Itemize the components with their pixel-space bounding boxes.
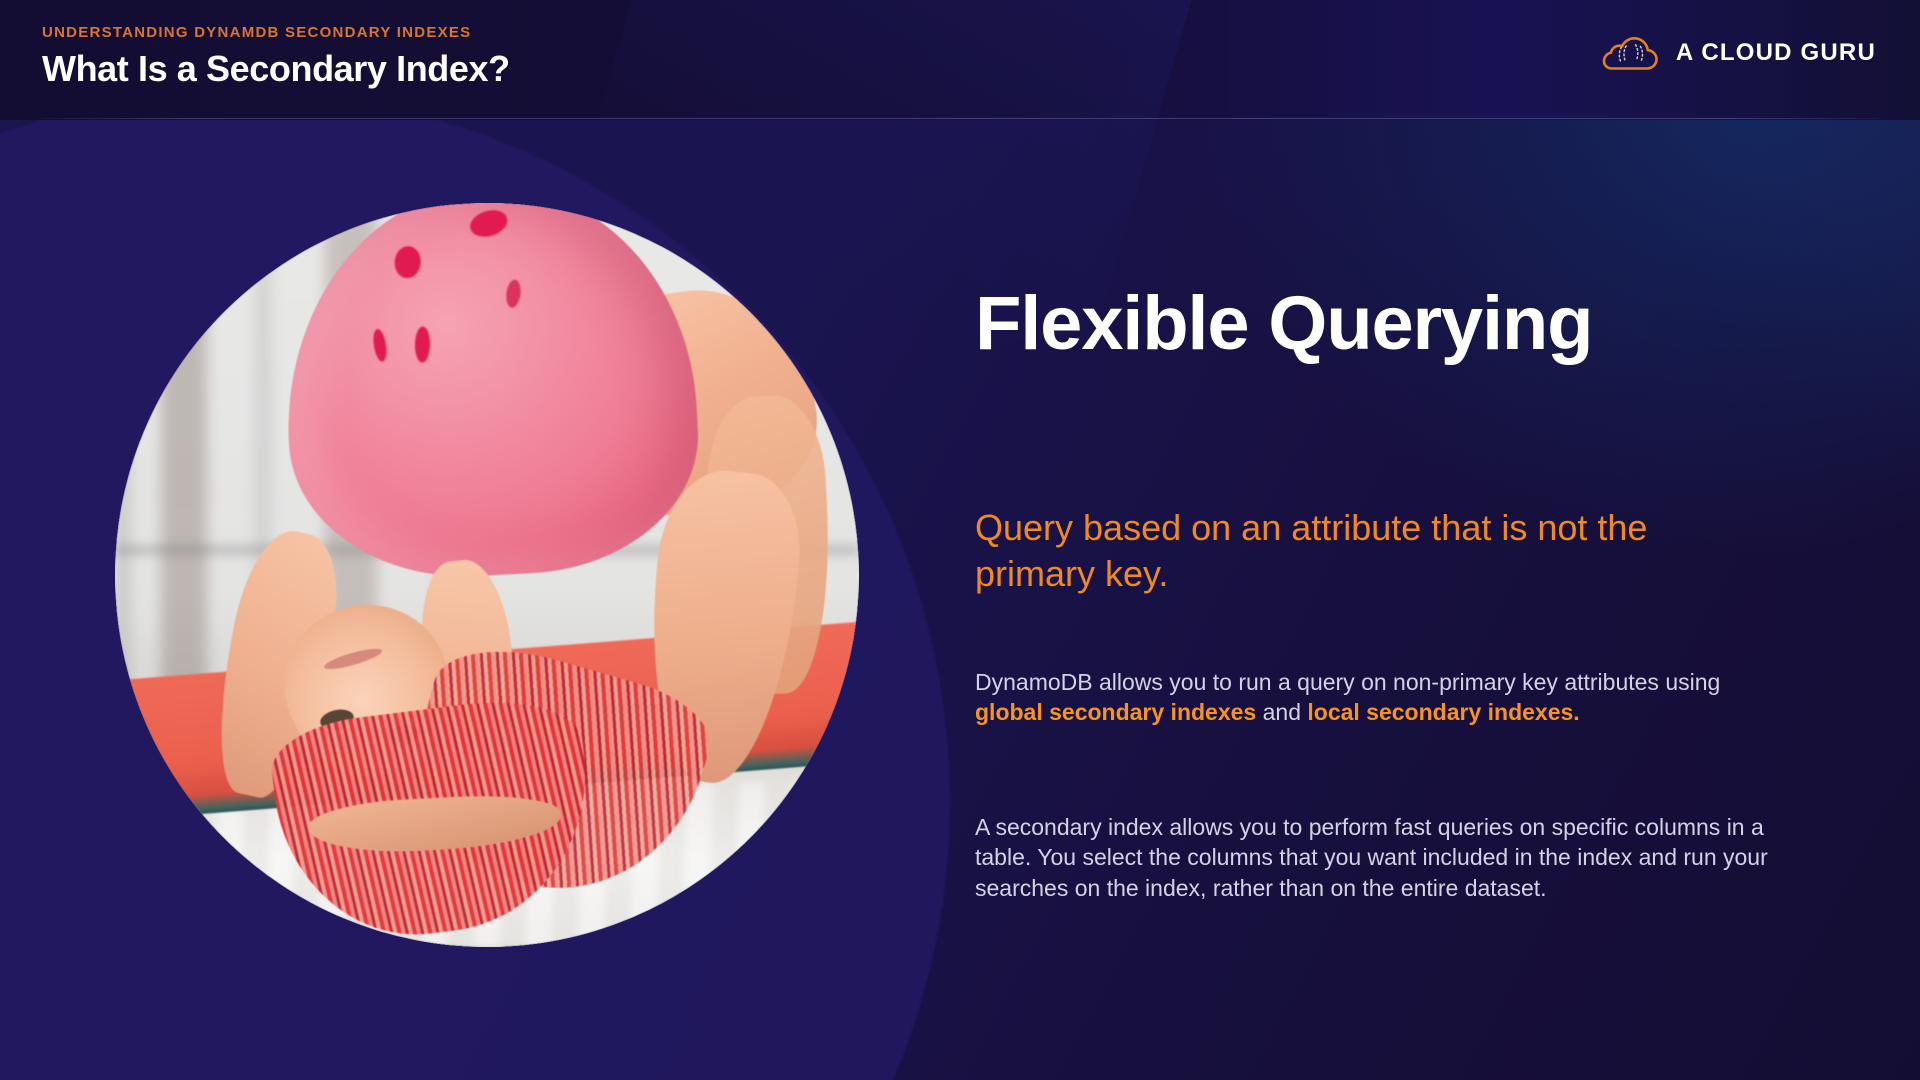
para1-highlight-local-secondary-indexes: local secondary indexes. (1307, 699, 1579, 725)
photo-leotard-dot (505, 279, 522, 308)
photo-leotard-dot (467, 206, 511, 241)
para1-text-2: and (1256, 699, 1307, 725)
slide-header: UNDERSTANDING DYNAMDB SECONDARY INDEXES … (0, 0, 1920, 120)
slide-canvas: UNDERSTANDING DYNAMDB SECONDARY INDEXES … (0, 0, 1920, 1080)
gymnast-photo (115, 203, 859, 947)
photo-leotard-dot (393, 245, 422, 280)
headline: Flexible Querying (975, 285, 1592, 363)
header-eyebrow: UNDERSTANDING DYNAMDB SECONDARY INDEXES (42, 24, 471, 41)
page-title: What Is a Secondary Index? (42, 48, 510, 90)
cloud-icon (1602, 33, 1660, 73)
brand-name: A CLOUD GURU (1676, 39, 1876, 67)
brand-lockup: A CLOUD GURU (1602, 33, 1876, 73)
photo-leotard-dot (415, 327, 430, 364)
subheadline: Query based on an attribute that is not … (975, 505, 1765, 597)
body-paragraph-2: A secondary index allows you to perform … (975, 812, 1775, 903)
para1-highlight-global-secondary-indexes: global secondary indexes (975, 699, 1256, 725)
photo-leotard-dot (372, 329, 389, 364)
body-paragraph-1: DynamoDB allows you to run a query on no… (975, 667, 1775, 728)
header-divider (42, 118, 1878, 119)
para1-text-1: DynamoDB allows you to run a query on no… (975, 669, 1720, 695)
